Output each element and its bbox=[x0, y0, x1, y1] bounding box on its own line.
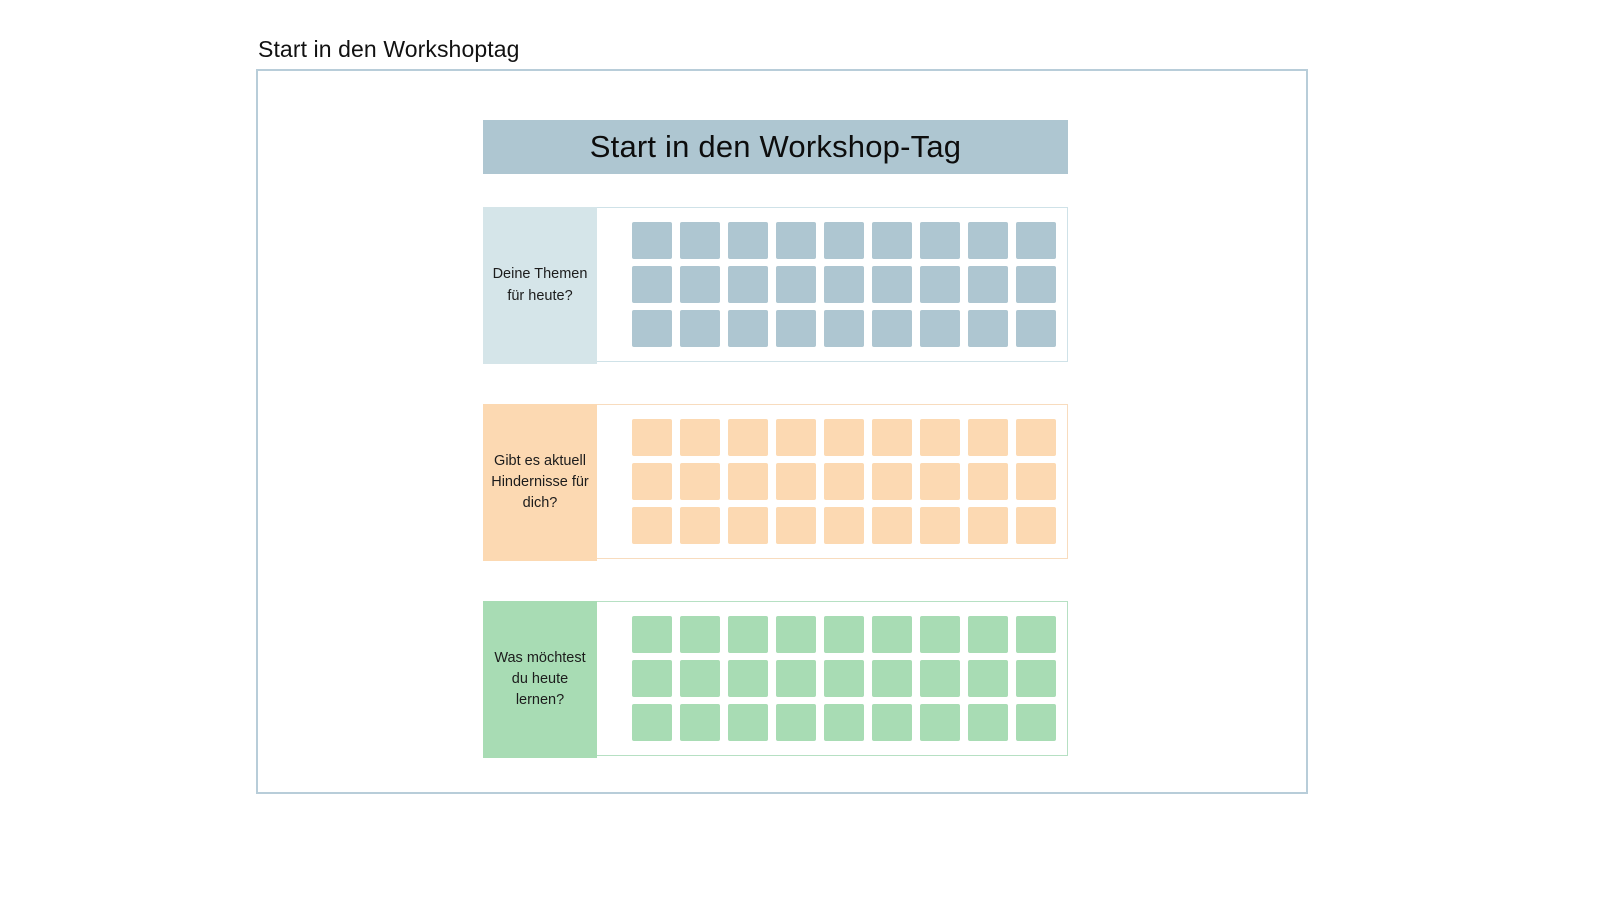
note-row bbox=[632, 463, 1067, 500]
sticky-note[interactable] bbox=[776, 419, 816, 456]
sticky-note[interactable] bbox=[632, 660, 672, 697]
sticky-note[interactable] bbox=[968, 616, 1008, 653]
section-label-text: Gibt es aktuell Hindernisse für dich? bbox=[489, 451, 591, 514]
sticky-note[interactable] bbox=[872, 660, 912, 697]
note-row bbox=[632, 310, 1067, 347]
sticky-note[interactable] bbox=[872, 266, 912, 303]
board-banner: Start in den Workshop-Tag bbox=[483, 120, 1068, 174]
sticky-note[interactable] bbox=[1016, 463, 1056, 500]
sticky-note[interactable] bbox=[920, 419, 960, 456]
sticky-note[interactable] bbox=[1016, 310, 1056, 347]
sticky-note[interactable] bbox=[680, 222, 720, 259]
sticky-note[interactable] bbox=[728, 266, 768, 303]
notes-area-hindernisse bbox=[598, 405, 1067, 558]
sticky-note[interactable] bbox=[776, 660, 816, 697]
sticky-note[interactable] bbox=[824, 660, 864, 697]
sticky-note[interactable] bbox=[680, 266, 720, 303]
sticky-note[interactable] bbox=[872, 310, 912, 347]
notes-area-lernen bbox=[598, 602, 1067, 755]
sticky-note[interactable] bbox=[872, 463, 912, 500]
section-label-hindernisse: Gibt es aktuell Hindernisse für dich? bbox=[483, 404, 597, 561]
sticky-note[interactable] bbox=[632, 704, 672, 741]
sticky-note[interactable] bbox=[776, 704, 816, 741]
sticky-note[interactable] bbox=[968, 419, 1008, 456]
sticky-note[interactable] bbox=[1016, 660, 1056, 697]
sticky-note[interactable] bbox=[776, 266, 816, 303]
sticky-note[interactable] bbox=[872, 419, 912, 456]
sticky-note[interactable] bbox=[632, 463, 672, 500]
sticky-note[interactable] bbox=[680, 660, 720, 697]
sticky-note[interactable] bbox=[1016, 419, 1056, 456]
sticky-note[interactable] bbox=[632, 266, 672, 303]
sticky-note[interactable] bbox=[824, 222, 864, 259]
sticky-note[interactable] bbox=[776, 463, 816, 500]
note-row bbox=[632, 222, 1067, 259]
section-label-themen: Deine Themen für heute? bbox=[483, 207, 597, 364]
sticky-note[interactable] bbox=[632, 507, 672, 544]
section-label-lernen: Was möchtest du heute lernen? bbox=[483, 601, 597, 758]
sticky-note[interactable] bbox=[728, 463, 768, 500]
sticky-note[interactable] bbox=[776, 310, 816, 347]
sticky-note[interactable] bbox=[776, 222, 816, 259]
sticky-note[interactable] bbox=[1016, 616, 1056, 653]
notes-area-themen bbox=[598, 208, 1067, 361]
sticky-note[interactable] bbox=[680, 704, 720, 741]
canvas-frame: Start in den Workshop-Tag Deine Themen f… bbox=[256, 69, 1308, 794]
sticky-note[interactable] bbox=[920, 222, 960, 259]
note-row bbox=[632, 660, 1067, 697]
sticky-note[interactable] bbox=[968, 507, 1008, 544]
sticky-note[interactable] bbox=[728, 616, 768, 653]
sticky-note[interactable] bbox=[968, 704, 1008, 741]
sticky-note[interactable] bbox=[920, 310, 960, 347]
sticky-note[interactable] bbox=[920, 616, 960, 653]
note-row bbox=[632, 704, 1067, 741]
sticky-note[interactable] bbox=[920, 266, 960, 303]
sticky-note[interactable] bbox=[968, 310, 1008, 347]
sticky-note[interactable] bbox=[1016, 704, 1056, 741]
sticky-note[interactable] bbox=[632, 419, 672, 456]
sticky-note[interactable] bbox=[872, 616, 912, 653]
page-title: Start in den Workshoptag bbox=[258, 36, 520, 63]
sticky-note[interactable] bbox=[1016, 222, 1056, 259]
sticky-note[interactable] bbox=[824, 507, 864, 544]
sticky-note[interactable] bbox=[920, 463, 960, 500]
note-row bbox=[632, 419, 1067, 456]
note-row bbox=[632, 507, 1067, 544]
sticky-note[interactable] bbox=[824, 704, 864, 741]
sticky-note[interactable] bbox=[824, 419, 864, 456]
sticky-note[interactable] bbox=[872, 704, 912, 741]
sticky-note[interactable] bbox=[968, 222, 1008, 259]
sticky-note[interactable] bbox=[680, 310, 720, 347]
sticky-note[interactable] bbox=[776, 507, 816, 544]
sticky-note[interactable] bbox=[728, 704, 768, 741]
sticky-note[interactable] bbox=[872, 507, 912, 544]
section-label-text: Deine Themen für heute? bbox=[489, 264, 591, 306]
sticky-note[interactable] bbox=[920, 704, 960, 741]
sticky-note[interactable] bbox=[680, 419, 720, 456]
section-hindernisse[interactable]: Gibt es aktuell Hindernisse für dich? bbox=[483, 404, 1068, 559]
sticky-note[interactable] bbox=[1016, 507, 1056, 544]
sticky-note[interactable] bbox=[680, 463, 720, 500]
sticky-note[interactable] bbox=[968, 266, 1008, 303]
sticky-note[interactable] bbox=[824, 616, 864, 653]
section-lernen[interactable]: Was möchtest du heute lernen? bbox=[483, 601, 1068, 756]
sticky-note[interactable] bbox=[728, 419, 768, 456]
sticky-note[interactable] bbox=[920, 507, 960, 544]
sticky-note[interactable] bbox=[728, 222, 768, 259]
sticky-note[interactable] bbox=[776, 616, 816, 653]
sticky-note[interactable] bbox=[632, 616, 672, 653]
sticky-note[interactable] bbox=[824, 266, 864, 303]
sticky-note[interactable] bbox=[824, 463, 864, 500]
sticky-note[interactable] bbox=[728, 660, 768, 697]
sticky-note[interactable] bbox=[1016, 266, 1056, 303]
board-banner-title: Start in den Workshop-Tag bbox=[590, 129, 961, 165]
sticky-note[interactable] bbox=[968, 660, 1008, 697]
sticky-note[interactable] bbox=[632, 310, 672, 347]
section-label-text: Was möchtest du heute lernen? bbox=[489, 648, 591, 711]
sticky-note[interactable] bbox=[680, 507, 720, 544]
sticky-note[interactable] bbox=[872, 222, 912, 259]
sticky-note[interactable] bbox=[968, 463, 1008, 500]
sticky-note[interactable] bbox=[728, 310, 768, 347]
sticky-note[interactable] bbox=[824, 310, 864, 347]
note-row bbox=[632, 266, 1067, 303]
sticky-note[interactable] bbox=[632, 222, 672, 259]
note-row bbox=[632, 616, 1067, 653]
sticky-note[interactable] bbox=[680, 616, 720, 653]
sticky-note[interactable] bbox=[728, 507, 768, 544]
workshop-board: Start in den Workshop-Tag Deine Themen f… bbox=[483, 120, 1068, 760]
section-themen[interactable]: Deine Themen für heute? bbox=[483, 207, 1068, 362]
sticky-note[interactable] bbox=[920, 660, 960, 697]
